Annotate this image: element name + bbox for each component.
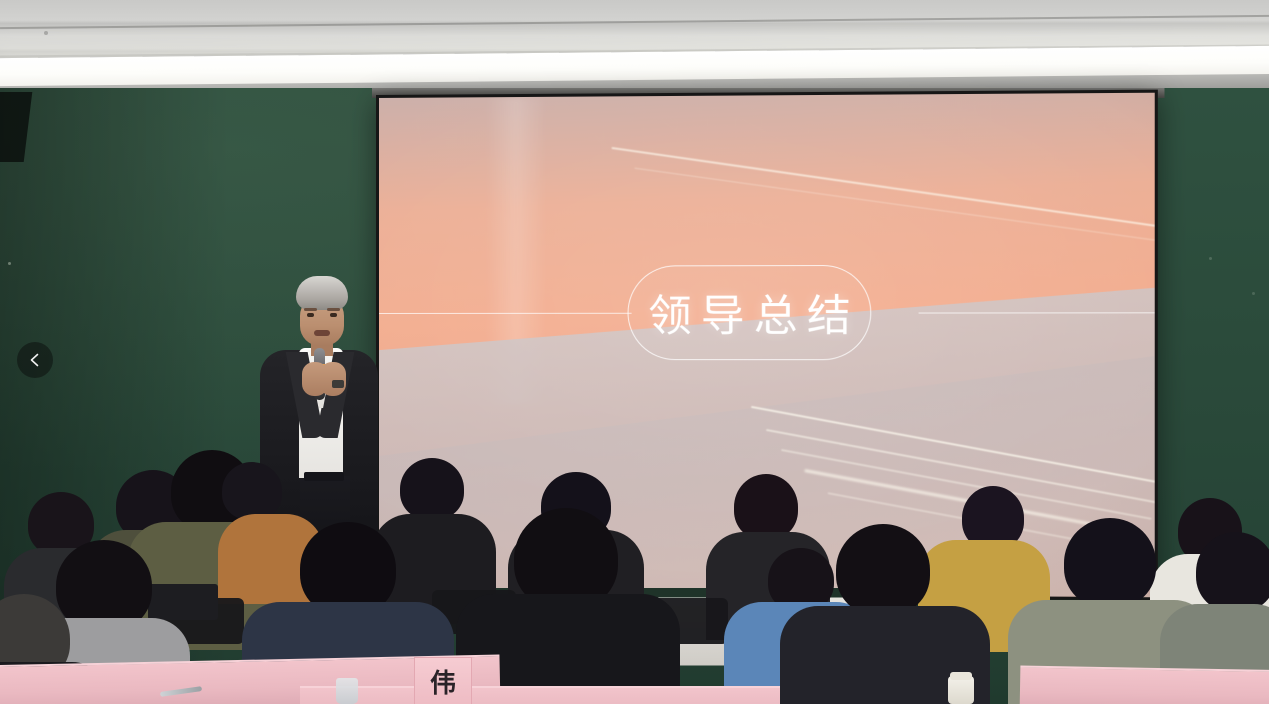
water-glass: [336, 678, 358, 704]
ceiling-fixture-dot: [44, 31, 48, 35]
previous-image-button[interactable]: [17, 342, 53, 378]
presenter-wristwatch: [332, 380, 344, 388]
presenter-eye: [330, 313, 337, 317]
name-placard-text: 伟: [430, 663, 456, 700]
chevron-left-icon: [28, 353, 42, 367]
presenter-brow: [327, 308, 340, 311]
presenter-hair: [296, 276, 348, 310]
wall-speck: [8, 262, 11, 265]
presenter-brow: [304, 308, 317, 311]
conference-table: [1020, 666, 1269, 704]
audience-head: [1064, 518, 1156, 608]
audience-head: [734, 474, 798, 540]
conference-table: [300, 686, 780, 704]
audience-head: [1196, 532, 1269, 612]
presenter-eye: [307, 313, 314, 317]
name-placard: 伟: [414, 657, 472, 704]
ceiling-seam: [0, 15, 1269, 29]
audience-head: [400, 458, 464, 520]
wall-speck: [1252, 292, 1255, 295]
conference-photo: 领导总结: [0, 0, 1269, 704]
audience-head: [836, 524, 930, 616]
presenter-mouth: [314, 330, 330, 336]
presenter-hand: [320, 362, 346, 396]
audience-head: [222, 462, 282, 520]
laptop: [148, 584, 218, 620]
wall-speck: [1209, 257, 1212, 260]
water-bottle: [948, 676, 974, 704]
water-bottle-cap: [950, 672, 972, 680]
